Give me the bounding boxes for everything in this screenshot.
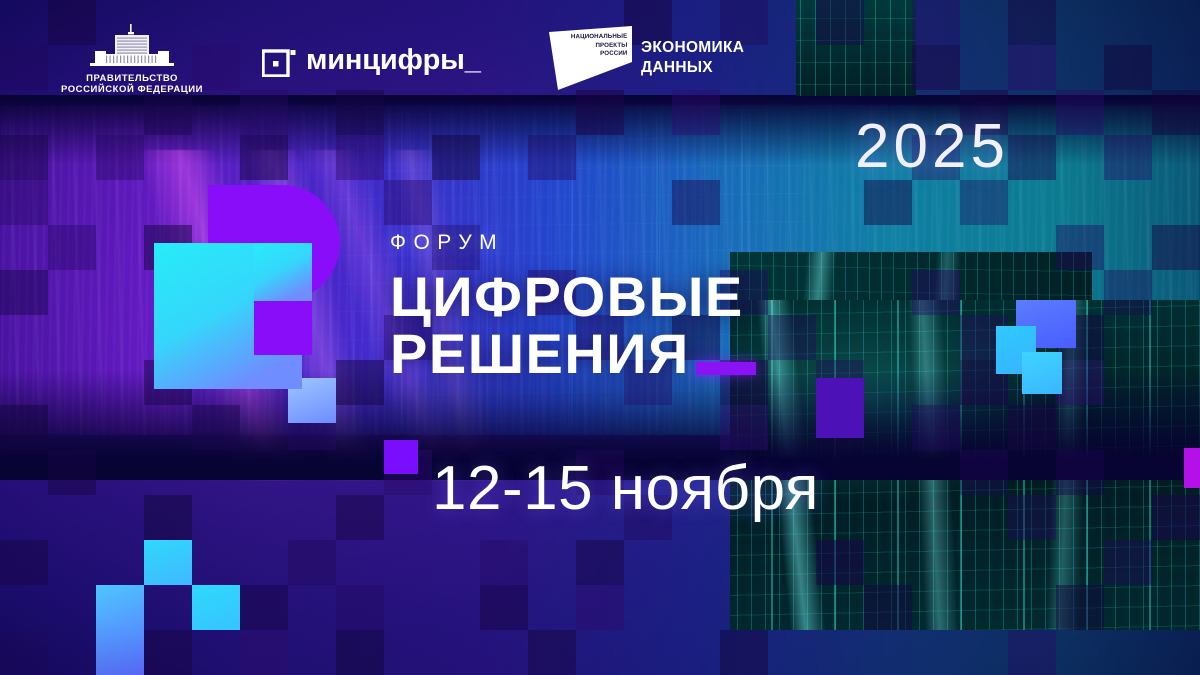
vignette-overlay	[0, 0, 1200, 675]
promo-banner: ПРАВИТЕЛЬСТВО РОССИЙСКОЙ ФЕДЕРАЦИИ минци…	[0, 0, 1200, 675]
